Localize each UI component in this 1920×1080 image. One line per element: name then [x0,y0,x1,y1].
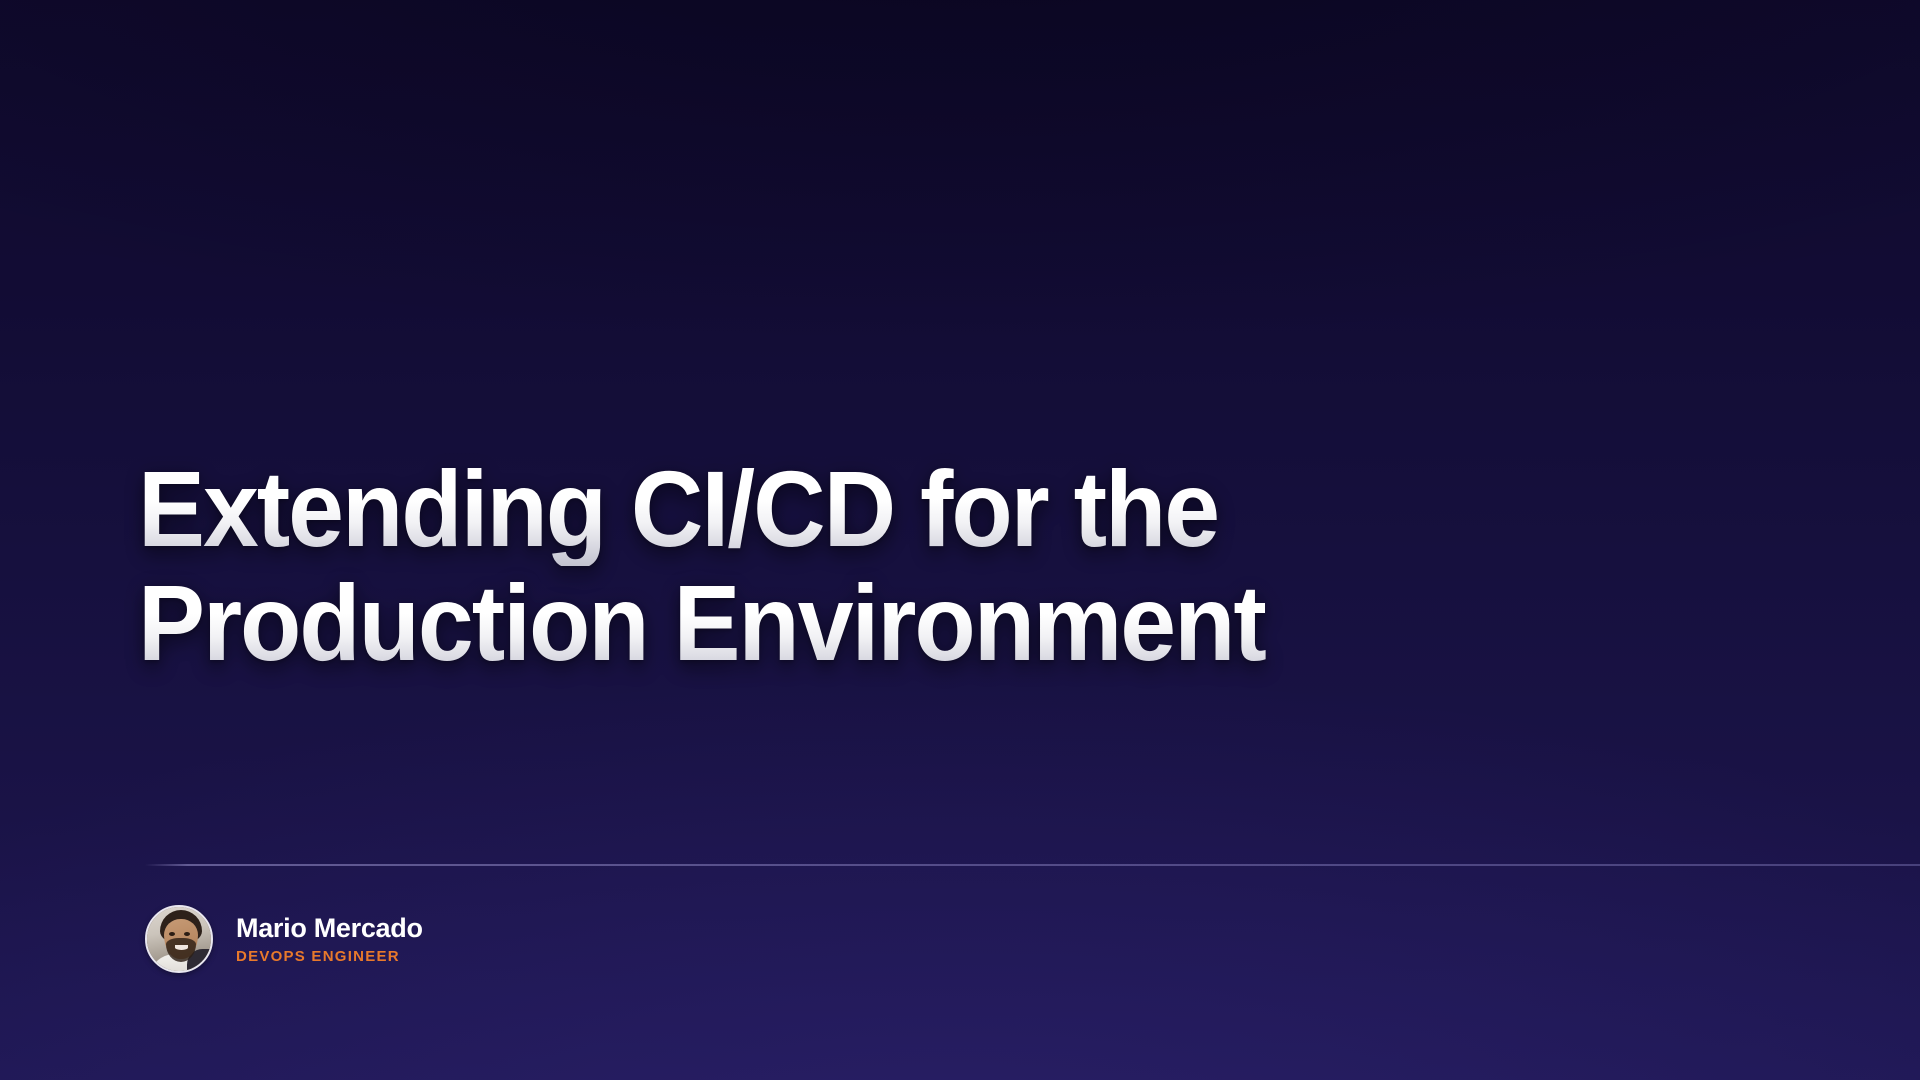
title-line-2: Production Environment [138,566,1589,680]
horizontal-divider [145,864,1920,866]
title-slide: Extending CI/CD for the Production Envir… [0,0,1920,1080]
page-title: Extending CI/CD for the Production Envir… [138,452,1698,680]
author-text-group: Mario Mercado DEVOPS ENGINEER [236,913,423,965]
author-name: Mario Mercado [236,913,423,943]
avatar-photo-eye-right [184,932,190,936]
title-line-1: Extending CI/CD for the [138,452,1589,566]
avatar [145,905,213,973]
author-role: DEVOPS ENGINEER [236,948,423,965]
author-credit: Mario Mercado DEVOPS ENGINEER [145,905,423,973]
avatar-photo-eye-left [169,932,175,936]
avatar-photo-smile [175,945,188,950]
